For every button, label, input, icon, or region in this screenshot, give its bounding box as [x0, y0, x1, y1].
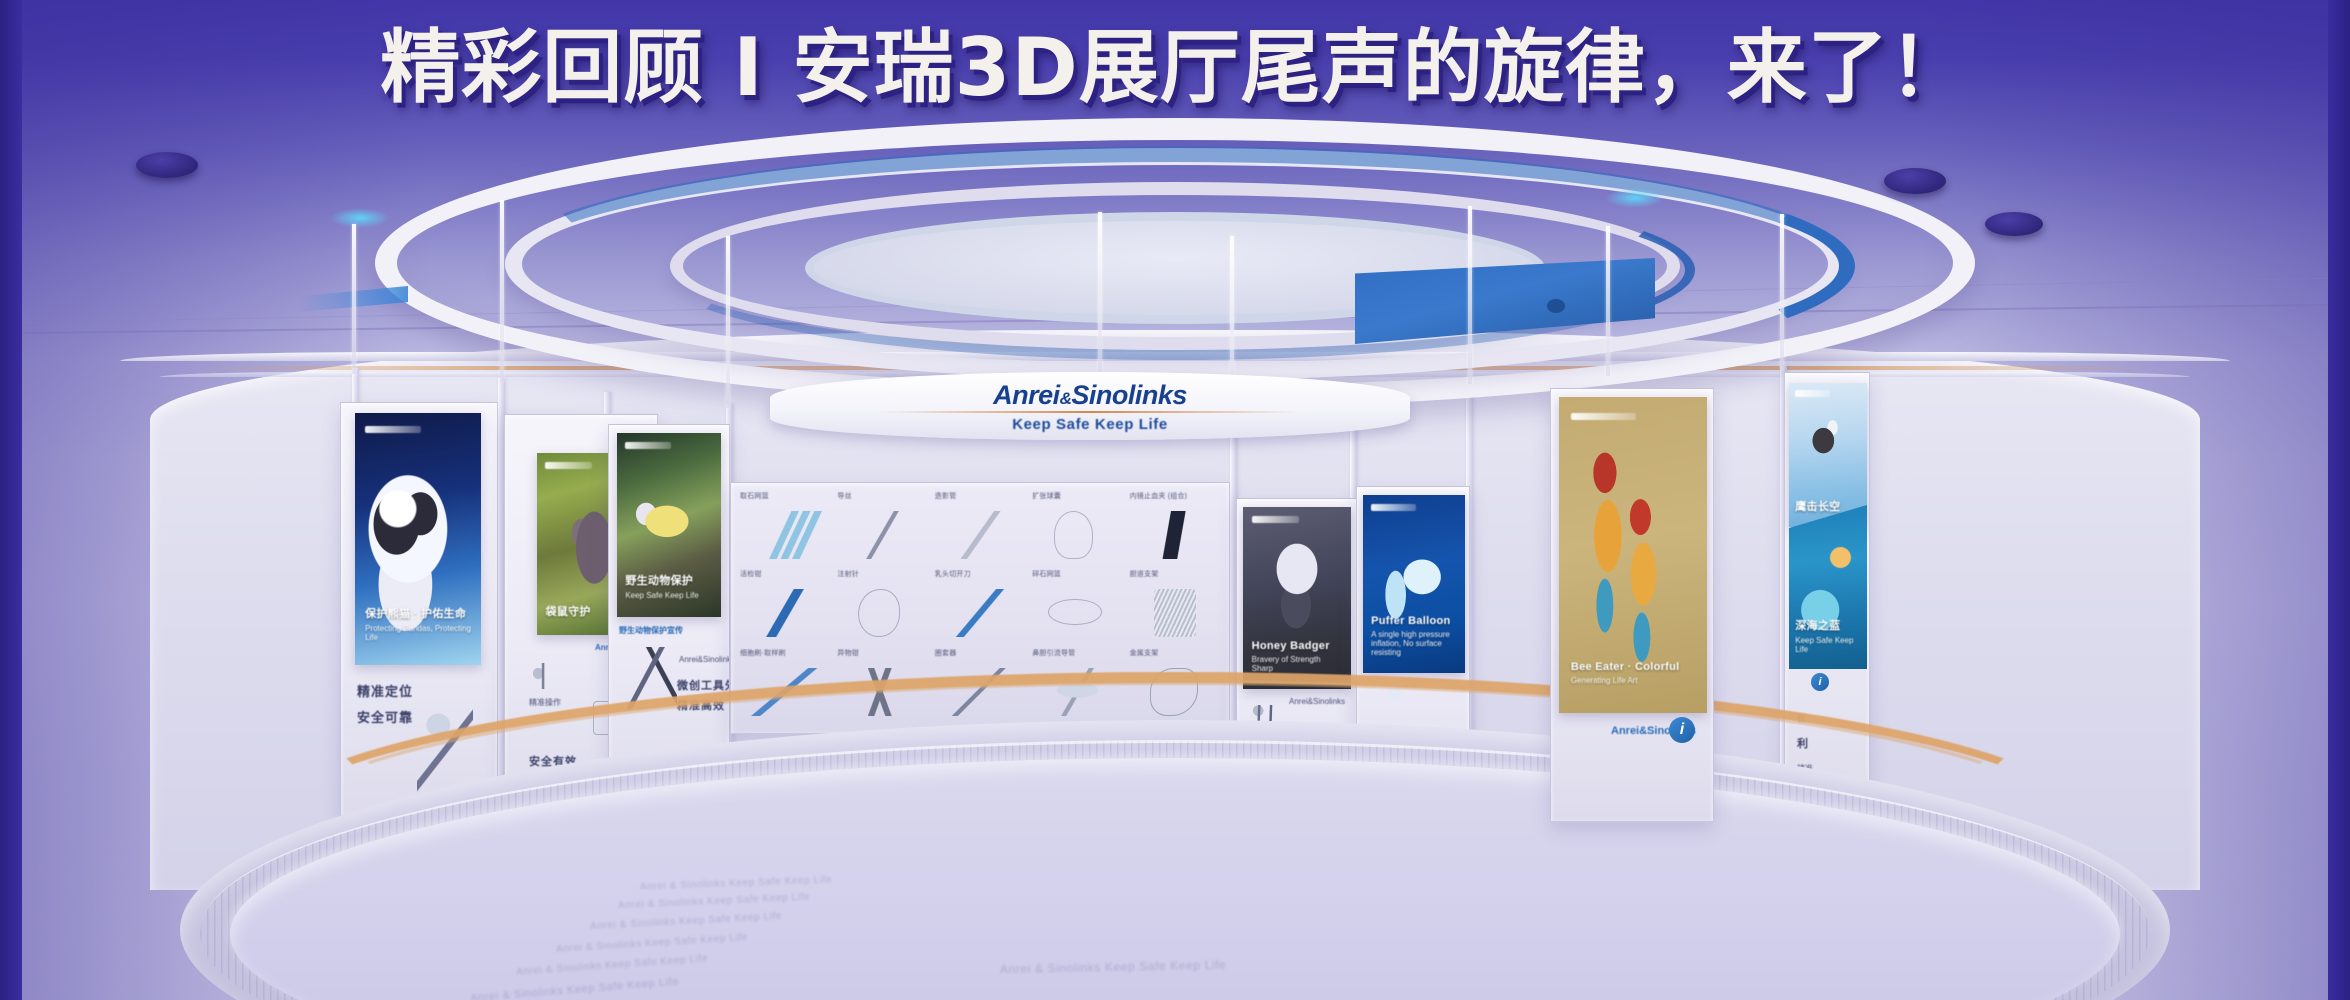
panel-caption-line1: 锐 — [1797, 713, 1805, 724]
product-icon-balloon — [1054, 511, 1093, 559]
poster-brand-strip — [1795, 390, 1829, 397]
poster-subline: A single high pressure inflation, No sur… — [1371, 630, 1457, 657]
product-illustration — [529, 663, 571, 689]
display-panel-panda[interactable]: 保护熊猫 · 护佑生命 Protecting Pandas, Protectin… — [340, 402, 498, 816]
poster-caption: Honey Badger Bravery of Strength Sharp — [1252, 640, 1343, 673]
ceiling-led-glow-right — [1605, 188, 1665, 208]
product-label: 注射针 — [837, 569, 859, 579]
product-icon-injection-needle — [858, 589, 900, 637]
product-cell[interactable]: 活检钳 — [737, 569, 833, 646]
hall-center-banner: Anrei&Sinolinks Keep Safe Keep Life — [770, 372, 1410, 440]
product-label: 取石网篮 — [740, 491, 769, 501]
product-cell[interactable]: 造影管 — [932, 491, 1028, 568]
poster-panda[interactable]: 保护熊猫 · 护佑生命 Protecting Pandas, Protectin… — [355, 413, 481, 665]
brand-underline — [880, 411, 1300, 413]
panel-caption-line1: 精准定位 — [357, 681, 413, 700]
poster-brand-strip — [545, 462, 592, 469]
display-panel-bee-eater[interactable]: Bee Eater · Colorful Generating Life Art… — [1550, 388, 1714, 822]
product-icon-stapler — [749, 511, 822, 559]
product-grid-wall[interactable]: 取石网篮 导丝 造影管 扩张球囊 内镜止血夹 (组合) 活检钳 注射针 乳头切开… — [730, 482, 1230, 734]
poster-caption: Bee Eater · Colorful Generating Life Art — [1571, 661, 1695, 685]
product-cell[interactable]: 内镜止血夹 (组合) — [1127, 491, 1223, 568]
right-frame-border — [2328, 0, 2350, 1000]
product-label: 碎石网篮 — [1032, 569, 1061, 579]
poster-snake[interactable]: 野生动物保护 Keep Safe Keep Life — [617, 433, 721, 617]
panel-caption-line1: 精准操作 — [529, 697, 561, 708]
product-illustration — [617, 647, 677, 709]
product-cell[interactable]: 扩张球囊 — [1029, 491, 1125, 568]
poster-headline: 保护熊猫 · 护佑生命 — [365, 605, 471, 621]
product-icon-foreign-body-forceps — [846, 668, 919, 716]
poster-headline: 野生动物保护 — [625, 572, 712, 588]
poster-caption: 深海之蓝 Keep Safe Keep Life — [1795, 617, 1861, 654]
hanger-rod — [1098, 212, 1102, 376]
product-cell[interactable]: 鼻胆引流导管 — [1029, 648, 1125, 725]
poster-badger[interactable]: Honey Badger Bravery of Strength Sharp — [1243, 507, 1351, 689]
panel-caption-line3: 精准高效 — [677, 697, 725, 713]
poster-headline: Honey Badger — [1252, 640, 1343, 652]
product-label: 导丝 — [837, 491, 851, 501]
info-badge-icon: i — [1669, 717, 1695, 743]
product-icon-lithotripsy-basket — [1048, 599, 1102, 625]
product-label: 胆道支架 — [1130, 569, 1159, 579]
product-cell[interactable]: 圈套器 — [932, 648, 1028, 725]
hanger-rod — [352, 224, 356, 374]
display-panel-eagle[interactable]: 鹰击长空 深海之蓝 Keep Safe Keep Life i 锐 利 精准 — [1784, 372, 1870, 814]
poster-subline: Generating Life Art — [1571, 676, 1695, 685]
product-cell[interactable]: 细胞刷·取样刷 — [737, 648, 833, 725]
exhibition-hall-screenshot: Anrei&Sinolinks Keep Safe Keep Life 保护熊猫… — [0, 0, 2350, 1000]
brand-ampersand: & — [1060, 389, 1072, 408]
poster-bee-eater[interactable]: Bee Eater · Colorful Generating Life Art — [1559, 397, 1707, 713]
product-cell[interactable]: 乳头切开刀 — [932, 569, 1028, 646]
product-label: 扩张球囊 — [1032, 491, 1061, 501]
left-frame-border — [0, 0, 22, 1000]
product-label: 内镜止血夹 (组合) — [1130, 491, 1188, 501]
product-cell[interactable]: 异物钳 — [834, 648, 930, 725]
product-icon-biliary-stent — [1154, 589, 1196, 637]
panel-caption-line2: 微创工具外 — [677, 677, 730, 693]
product-label: 异物钳 — [837, 648, 859, 658]
poster-brand-strip — [1252, 516, 1300, 523]
info-badge-icon: i — [1811, 673, 1829, 691]
poster-caption: 保护熊猫 · 护佑生命 Protecting Pandas, Protectin… — [365, 605, 471, 642]
panel-caption-line2: 利 — [1797, 735, 1809, 751]
poster-caption: Puffer Balloon A single high pressure in… — [1371, 615, 1457, 657]
hanger-rod — [1606, 226, 1610, 376]
hanger-rod — [726, 236, 730, 408]
product-label: 鼻胆引流导管 — [1032, 648, 1075, 658]
product-cell[interactable]: 胆道支架 — [1127, 569, 1223, 646]
product-label: 金属支架 — [1130, 648, 1159, 658]
product-icon-nasobiliary-drain — [1041, 668, 1114, 716]
panel-caption-line2: 安全可靠 — [357, 707, 413, 726]
poster-headline: Bee Eater · Colorful — [1571, 661, 1695, 673]
product-cell[interactable]: 导丝 — [834, 491, 930, 568]
poster-ocean[interactable]: 深海之蓝 Keep Safe Keep Life — [1789, 505, 1867, 669]
brand-name-left: Anrei — [993, 380, 1060, 410]
product-label: 活检钳 — [740, 569, 762, 579]
poster-brand-strip — [1571, 413, 1636, 420]
brand-tagline: Keep Safe Keep Life — [1012, 416, 1168, 433]
poster-brand-strip — [365, 426, 420, 433]
brand-logo-text: Anrei&Sinolinks — [993, 380, 1187, 411]
poster-subline: Keep Safe Keep Life — [1795, 636, 1861, 654]
product-cell[interactable]: 注射针 — [834, 569, 930, 646]
poster-subline: Keep Safe Keep Life — [625, 591, 712, 600]
ceiling-spotlight — [136, 152, 198, 178]
product-label: 造影管 — [935, 491, 957, 501]
product-cell[interactable]: 取石网篮 — [737, 491, 833, 568]
poster-brand-strip — [625, 442, 671, 449]
product-cell[interactable]: 碎石网篮 — [1029, 569, 1125, 646]
product-label: 乳头切开刀 — [935, 569, 971, 579]
panel-label-secondary: Anrei&Sinolinks — [679, 655, 730, 664]
poster-brand-strip — [1371, 504, 1416, 511]
product-icon-hemoclip — [1138, 511, 1211, 559]
panel-caption-line1: 野生动物保护宣传 — [619, 625, 683, 636]
product-label: 细胞刷·取样刷 — [740, 648, 786, 658]
poster-eagle[interactable]: 鹰击长空 — [1789, 383, 1867, 527]
ceiling-spotlight — [1884, 168, 1946, 194]
product-icon-snare — [943, 668, 1016, 716]
product-label: 圈套器 — [935, 648, 957, 658]
product-icon-sphincterotome — [943, 589, 1016, 637]
product-icon-catheter — [943, 511, 1016, 559]
brand-name-right: Sinolinks — [1071, 380, 1187, 410]
hanger-rod — [500, 200, 504, 382]
poster-caption: 野生动物保护 Keep Safe Keep Life — [625, 572, 712, 600]
product-icon-guidewire — [846, 511, 919, 559]
poster-subline: Protecting Pandas, Protecting Life — [365, 624, 471, 642]
product-icon-cytology-brush — [749, 668, 822, 716]
poster-footer-brand: Anrei&Sinolinks — [1289, 697, 1345, 706]
hanger-rod — [1780, 214, 1784, 370]
poster-headline: 深海之蓝 — [1795, 617, 1861, 633]
poster-headline: Puffer Balloon — [1371, 615, 1457, 627]
product-icon-metal-stent — [1150, 668, 1198, 716]
hanger-rod — [1468, 206, 1472, 384]
product-cell[interactable]: 金属支架 — [1127, 648, 1223, 725]
product-icon-biopsy-forceps — [749, 589, 822, 637]
poster-puffer-balloon[interactable]: Puffer Balloon A single high pressure in… — [1363, 495, 1465, 673]
ceiling-led-glow-left — [330, 208, 390, 228]
ceiling-panel-dot — [1547, 299, 1565, 313]
ceiling-spotlight — [1985, 212, 2043, 236]
page-title: 精彩回顾 I 安瑞3D展厅尾声的旋律，来了！ — [0, 26, 2350, 110]
poster-subline: Bravery of Strength Sharp — [1252, 655, 1343, 673]
